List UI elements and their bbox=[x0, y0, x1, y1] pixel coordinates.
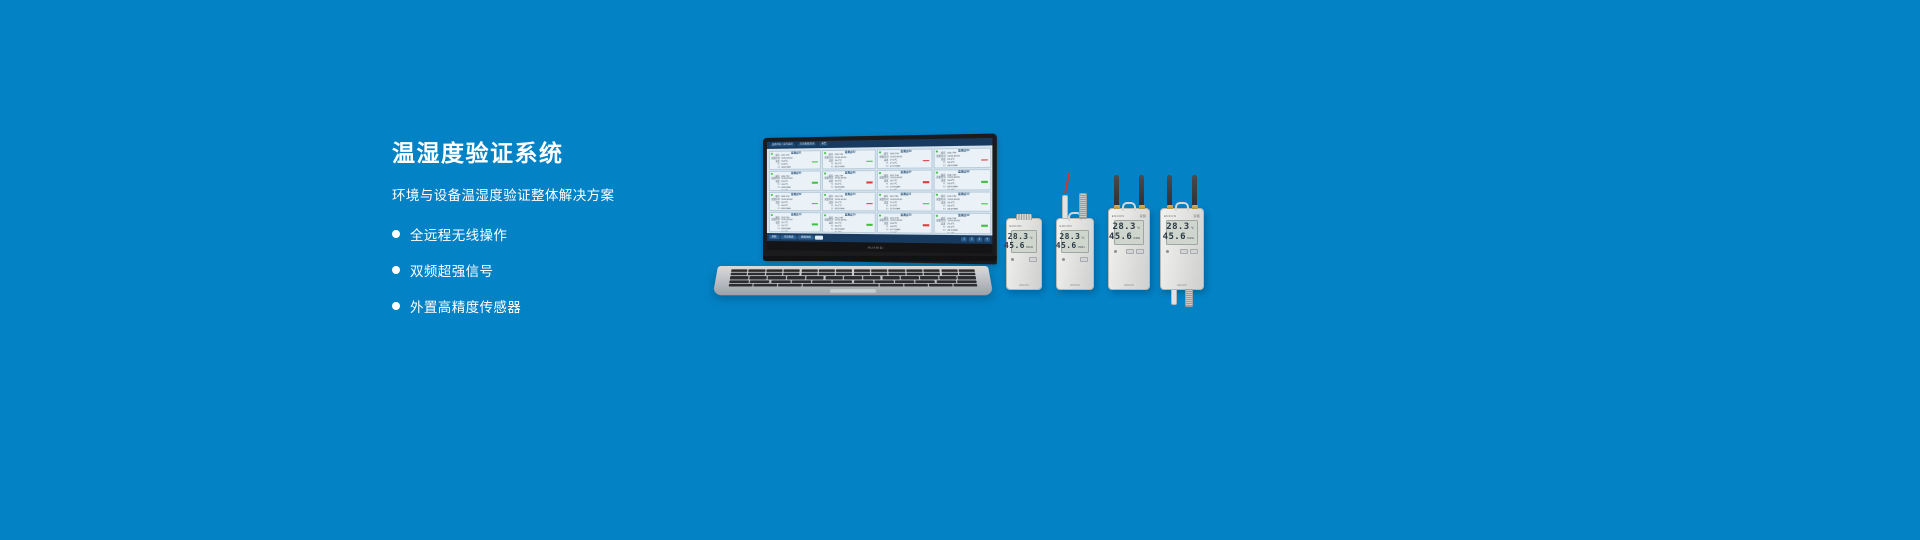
page-subtitle: 环境与设备温湿度验证整体解决方案 bbox=[392, 184, 722, 204]
monitor-card[interactable]: 监测点15编号015-T/H采集时间11/24 09:52温度26.9℃T126… bbox=[876, 212, 932, 233]
probe-wire-icon bbox=[1064, 172, 1070, 194]
keyboard-row bbox=[730, 276, 976, 279]
bullet-dot-icon bbox=[392, 266, 400, 274]
keyboard-key[interactable] bbox=[753, 284, 777, 287]
monitor-grid-container: 监测点01编号001-T/H采集时间11/24 09:52温度25.8℃T125… bbox=[767, 145, 992, 235]
device-external-probe-logger: ENCON 28.3 ℃ 45.6 %RH ENCON bbox=[1056, 218, 1094, 290]
keyboard-key[interactable] bbox=[879, 284, 903, 287]
lcd-temperature-row: 28.3 ℃ bbox=[1170, 223, 1194, 232]
feature-label: 双频超强信号 bbox=[410, 260, 493, 280]
monitor-card[interactable]: 监测点04编号004-T/H采集时间11/24 09:52温度25.3℃T125… bbox=[933, 147, 991, 168]
keyboard-key[interactable] bbox=[941, 273, 958, 276]
keyboard-key[interactable] bbox=[874, 280, 894, 283]
keyboard-key[interactable] bbox=[730, 276, 748, 279]
keyboard-key[interactable] bbox=[801, 273, 818, 276]
temperature-unit: ℃ bbox=[1081, 237, 1084, 240]
device-foot-logo: ENCON bbox=[1124, 284, 1133, 287]
keyboard-key[interactable] bbox=[833, 280, 853, 283]
keyboard-key[interactable] bbox=[783, 273, 800, 276]
feature-label: 全远程无线操作 bbox=[410, 224, 507, 244]
keyboard-key[interactable] bbox=[730, 273, 747, 276]
lcd-humidity-row: 45.6 %RH bbox=[1118, 233, 1140, 242]
card-row-t3: T326.9℃ bbox=[879, 233, 929, 234]
laptop-hinge bbox=[763, 256, 997, 261]
humidity-unit: %RH bbox=[1078, 246, 1085, 249]
keyboard-key[interactable] bbox=[901, 276, 919, 279]
humidity-value: 45.6 bbox=[1163, 233, 1186, 242]
keyboard-key[interactable] bbox=[889, 273, 906, 276]
chart-button[interactable]: 数据曲线 bbox=[798, 235, 814, 240]
brand-right-label: 双频 bbox=[1140, 214, 1147, 218]
page-title: 温湿度验证系统 bbox=[392, 140, 722, 168]
refresh-button[interactable]: 刷新 bbox=[769, 235, 780, 240]
keyboard-key[interactable] bbox=[871, 273, 887, 276]
lcd-humidity-row: 45.6 %RH bbox=[1015, 242, 1033, 250]
device-dualband-wireless-logger: ENCON 双频 28.3 ℃ 45.6 %RH E bbox=[1108, 208, 1150, 290]
device-controls bbox=[1114, 249, 1144, 254]
keyboard-key[interactable] bbox=[731, 269, 748, 272]
keyboard-key[interactable] bbox=[787, 276, 805, 279]
laptop-keyboard bbox=[729, 269, 978, 286]
monitor-card[interactable]: 监测点02编号002-T/H采集时间11/24 09:52温度26.1℃T126… bbox=[821, 149, 875, 170]
status-led-icon bbox=[1114, 250, 1117, 253]
vent-icon bbox=[1016, 214, 1032, 220]
temperature-value: 28.3 bbox=[1166, 223, 1189, 232]
brand-right-label: 双频 bbox=[1193, 214, 1200, 218]
card-row-t2: T248.4%RH bbox=[936, 208, 988, 211]
card-row-t2: T247.2%RH bbox=[879, 165, 929, 169]
toolbar-item-alarm[interactable]: 报警 bbox=[819, 143, 828, 147]
temperature-unit: ℃ bbox=[1137, 227, 1140, 230]
keyboard-key[interactable] bbox=[778, 284, 802, 287]
keyboard-key[interactable] bbox=[871, 269, 887, 272]
keyboard-key[interactable] bbox=[729, 284, 753, 287]
keyboard-key[interactable] bbox=[836, 269, 852, 272]
antenna-left-icon bbox=[1114, 175, 1119, 209]
keyboard-key[interactable] bbox=[882, 276, 900, 279]
keyboard-row bbox=[731, 269, 975, 272]
keyboard-key[interactable] bbox=[791, 280, 811, 283]
keyboard-key[interactable] bbox=[818, 273, 834, 276]
humidity-unit: %RH bbox=[1133, 237, 1140, 240]
lcd-humidity-row: 45.6 %RH bbox=[1065, 242, 1084, 250]
keyboard-key[interactable] bbox=[825, 276, 843, 279]
device-controls bbox=[1166, 249, 1197, 254]
laptop-bezel-brand: HUAWEI bbox=[767, 241, 992, 254]
lcd-display: 28.3 ℃ 45.6 %RH bbox=[1166, 220, 1198, 245]
keyboard-key[interactable] bbox=[941, 269, 958, 272]
probe-mesh-bottom-right bbox=[1185, 289, 1193, 307]
brand-left-label: ENCON bbox=[1164, 214, 1176, 218]
antenna-left-icon bbox=[1167, 175, 1172, 209]
keyboard-key[interactable] bbox=[803, 284, 878, 287]
keyboard-row bbox=[729, 280, 976, 283]
lcd-display: 28.3 ℃ 45.6 %RH bbox=[1011, 230, 1037, 253]
temperature-value: 28.3 bbox=[1059, 233, 1080, 241]
keyboard-row bbox=[729, 284, 978, 287]
card-row-t2: T249.0%RH bbox=[936, 165, 988, 169]
device-dualband-probe-logger: ENCON 双频 28.3 ℃ 45.6 %RH E bbox=[1160, 208, 1204, 290]
humidity-value: 45.6 bbox=[1109, 233, 1132, 242]
laptop-trackpad bbox=[829, 288, 877, 293]
brand-label: HUAWEI bbox=[868, 245, 884, 249]
device-button-down[interactable] bbox=[1136, 249, 1144, 254]
page-button-2[interactable]: 2 bbox=[969, 237, 975, 242]
monitor-card[interactable]: 监测点06编号006-T/H采集时间11/24 09:52温度25.5℃T125… bbox=[821, 170, 875, 190]
card-row-t2: T248.3%RH bbox=[824, 187, 873, 190]
device-case: ENCON 双频 28.3 ℃ 45.6 %RH E bbox=[1160, 208, 1204, 290]
keyboard-key[interactable] bbox=[750, 280, 770, 283]
probe-stem-bottom-left bbox=[1171, 289, 1177, 305]
keyboard-key[interactable] bbox=[920, 276, 938, 279]
device-keypad[interactable] bbox=[1180, 249, 1198, 254]
feature-item-1: 全远程无线操作 bbox=[392, 224, 722, 244]
probe-mesh-right bbox=[1079, 193, 1087, 219]
keyboard-key[interactable] bbox=[958, 269, 975, 272]
device-button-up[interactable] bbox=[1180, 249, 1188, 254]
keyboard-key[interactable] bbox=[936, 280, 956, 283]
card-row-t3: T326.2℃ bbox=[824, 232, 873, 233]
device-controls bbox=[1062, 257, 1089, 262]
status-led-icon bbox=[1011, 258, 1014, 261]
toolbar-spacer bbox=[825, 238, 960, 240]
keyboard-key[interactable] bbox=[895, 280, 915, 283]
temperature-unit: ℃ bbox=[1191, 227, 1194, 230]
card-row-t2: T248.6%RH bbox=[771, 166, 818, 169]
keyboard-key[interactable] bbox=[854, 273, 870, 276]
keyboard-key[interactable] bbox=[953, 284, 977, 287]
feature-list: 全远程无线操作 双频超强信号 外置高精度传感器 bbox=[392, 224, 722, 316]
feature-item-2: 双频超强信号 bbox=[392, 260, 722, 280]
lcd-display: 28.3 ℃ 45.6 %RH bbox=[1114, 220, 1144, 245]
antenna-base-left bbox=[1167, 205, 1173, 209]
antenna-base-left bbox=[1114, 205, 1120, 209]
export-button[interactable]: 导出报表 bbox=[781, 235, 797, 240]
bullet-dot-icon bbox=[392, 230, 400, 238]
antenna-right-icon bbox=[1139, 175, 1144, 209]
toolbar-item-monitor[interactable]: 设备列表 / 实时监控 bbox=[770, 143, 795, 147]
keyboard-key[interactable] bbox=[854, 280, 874, 283]
keyboard-key[interactable] bbox=[812, 280, 832, 283]
keyboard-key[interactable] bbox=[854, 269, 870, 272]
humidity-value: 45.6 bbox=[1056, 242, 1077, 250]
lcd-temperature-row: 28.3 ℃ bbox=[1065, 233, 1084, 241]
feature-item-3: 外置高精度传感器 bbox=[392, 296, 722, 316]
lcd-temperature-row: 28.3 ℃ bbox=[1015, 233, 1033, 241]
device-button-up[interactable] bbox=[1080, 257, 1088, 262]
device-controls bbox=[1011, 257, 1036, 262]
device-foot-logo: ENCON bbox=[1019, 284, 1028, 287]
bullet-dot-icon bbox=[392, 302, 400, 310]
keyboard-key[interactable] bbox=[863, 276, 881, 279]
keyboard-key[interactable] bbox=[771, 280, 791, 283]
device-foot-logo: ENCON bbox=[1070, 284, 1079, 287]
antenna-base-right bbox=[1192, 205, 1198, 209]
keyboard-key[interactable] bbox=[748, 273, 765, 276]
antenna-right-icon bbox=[1192, 175, 1197, 209]
card-row-t2: T248.0%RH bbox=[771, 208, 818, 211]
card-row-t2: T247.5%RH bbox=[879, 208, 929, 211]
device-case: ENCON 28.3 ℃ 45.6 %RH ENCON bbox=[1006, 218, 1042, 290]
keyboard-key[interactable] bbox=[729, 280, 749, 283]
keyboard-key[interactable] bbox=[784, 269, 800, 272]
card-row-t2: T248.9%RH bbox=[771, 228, 818, 231]
temperature-value: 28.3 bbox=[1008, 233, 1029, 241]
card-row-t2: T247.9%RH bbox=[879, 187, 929, 190]
brand-left-label: ENCON bbox=[1060, 224, 1072, 228]
monitor-card[interactable]: 监测点10编号010-T/H采集时间11/24 09:52温度25.1℃T125… bbox=[821, 191, 875, 211]
device-keypad[interactable] bbox=[1126, 249, 1144, 254]
humidity-value: 45.6 bbox=[1004, 242, 1025, 250]
keyboard-key[interactable] bbox=[923, 269, 940, 272]
device-branding: ENCON bbox=[1009, 224, 1038, 228]
keyboard-key[interactable] bbox=[819, 269, 835, 272]
laptop-screen: 设备列表 / 实时监控 历史数据查询 报警 监测点01编号001-T/H采集时间… bbox=[767, 138, 992, 254]
monitor-card[interactable]: 监测点03编号003-T/H采集时间11/24 09:52温度27.4℃T127… bbox=[876, 148, 932, 169]
status-led-icon bbox=[1062, 258, 1065, 261]
keyboard-key[interactable] bbox=[906, 273, 923, 276]
card-row-t2: T248.5%RH bbox=[936, 187, 988, 190]
monitor-card[interactable]: 监测点13编号013-T/H采集时间11/24 09:52温度25.7℃T125… bbox=[768, 212, 820, 232]
toolbar-item-history[interactable]: 历史数据查询 bbox=[798, 143, 817, 147]
monitor-card-grid: 监测点01编号001-T/H采集时间11/24 09:52温度25.8℃T125… bbox=[768, 147, 990, 234]
humidity-unit: %RH bbox=[1026, 246, 1033, 249]
device-foot-logo: ENCON bbox=[1177, 284, 1186, 287]
card-row-t2: T249.2%RH bbox=[824, 208, 873, 211]
device-button-down[interactable] bbox=[1190, 249, 1198, 254]
lcd-display: 28.3 ℃ 45.6 %RH bbox=[1061, 230, 1088, 253]
keyboard-key[interactable] bbox=[916, 280, 936, 283]
keyboard-key[interactable] bbox=[844, 276, 862, 279]
laptop-illustration: 设备列表 / 实时监控 历史数据查询 报警 监测点01编号001-T/H采集时间… bbox=[718, 138, 988, 300]
keyboard-key[interactable] bbox=[904, 284, 928, 287]
keyboard-key[interactable] bbox=[766, 269, 783, 272]
keyboard-key[interactable] bbox=[959, 273, 976, 276]
page-button-3[interactable]: 3 bbox=[976, 237, 982, 242]
active-tab-button[interactable] bbox=[815, 235, 823, 240]
device-branding: ENCON 双频 bbox=[1164, 214, 1200, 218]
temperature-value: 28.3 bbox=[1113, 223, 1136, 232]
monitor-card[interactable]: 监测点16编号016-T/H采集时间11/24 09:52温度25.4℃T125… bbox=[933, 213, 991, 234]
card-row-t3: T325.4℃ bbox=[936, 233, 988, 234]
keyboard-key[interactable] bbox=[958, 276, 976, 279]
device-case: ENCON 28.3 ℃ 45.6 %RH ENCON bbox=[1056, 218, 1094, 290]
monitor-card[interactable]: 监测点14编号014-T/H采集时间11/24 09:52温度26.2℃T126… bbox=[821, 212, 875, 232]
monitor-card[interactable]: 监测点05编号005-T/H采集时间11/24 09:52温度26.0℃T126… bbox=[768, 170, 820, 190]
hanging-hook-icon bbox=[1122, 202, 1136, 211]
device-temp-humidity-logger: ENCON 28.3 ℃ 45.6 %RH ENCON bbox=[1006, 218, 1042, 290]
brand-left-label: ENCON bbox=[1112, 214, 1124, 218]
page-button-4[interactable]: 4 bbox=[984, 237, 990, 242]
card-row-t2: T248.1%RH bbox=[824, 166, 873, 170]
device-button-up[interactable] bbox=[1126, 249, 1134, 254]
keyboard-key[interactable] bbox=[939, 276, 957, 279]
hanging-hook-icon bbox=[1175, 202, 1189, 211]
keyboard-key[interactable] bbox=[766, 273, 783, 276]
antenna-base-right bbox=[1139, 205, 1145, 209]
card-row-t2: T248.8%RH bbox=[771, 187, 818, 190]
keyboard-key[interactable] bbox=[957, 280, 977, 283]
monitor-card[interactable]: 监测点09编号009-T/H采集时间11/24 09:52温度26.3℃T126… bbox=[768, 191, 820, 211]
promo-banner: 温湿度验证系统 环境与设备温湿度验证整体解决方案 全远程无线操作 双频超强信号 … bbox=[0, 0, 1920, 540]
monitor-card[interactable]: 监测点01编号001-T/H采集时间11/24 09:52温度25.8℃T125… bbox=[768, 150, 820, 170]
keyboard-key[interactable] bbox=[929, 284, 953, 287]
device-branding: ENCON bbox=[1060, 224, 1091, 228]
keyboard-key[interactable] bbox=[749, 276, 767, 279]
status-led-icon bbox=[1166, 250, 1169, 253]
page-button-1[interactable]: 1 bbox=[961, 237, 967, 242]
monitor-card[interactable]: 监测点12编号012-T/H采集时间11/24 09:52温度26.4℃T126… bbox=[933, 191, 991, 212]
keyboard-key[interactable] bbox=[801, 269, 817, 272]
device-case: ENCON 双频 28.3 ℃ 45.6 %RH E bbox=[1108, 208, 1150, 290]
brand-left-label: ENCON bbox=[1009, 224, 1021, 228]
keyboard-key[interactable] bbox=[924, 273, 941, 276]
keyboard-key[interactable] bbox=[906, 269, 922, 272]
card-row-t2: T247.7%RH bbox=[879, 229, 929, 233]
device-branding: ENCON 双频 bbox=[1112, 214, 1146, 218]
card-row-t3: T325.7℃ bbox=[771, 231, 818, 232]
laptop-lid: 设备列表 / 实时监控 历史数据查询 报警 监测点01编号001-T/H采集时间… bbox=[763, 134, 997, 265]
laptop-base bbox=[713, 266, 994, 295]
lcd-temperature-row: 28.3 ℃ bbox=[1118, 223, 1140, 232]
device-button-up[interactable] bbox=[1029, 257, 1037, 262]
humidity-unit: %RH bbox=[1187, 237, 1194, 240]
keyboard-key[interactable] bbox=[749, 269, 766, 272]
card-row-t2: T248.2%RH bbox=[824, 229, 873, 233]
card-row-t2: T249.1%RH bbox=[936, 230, 988, 234]
marketing-text-block: 温湿度验证系统 环境与设备温湿度验证整体解决方案 全远程无线操作 双频超强信号 … bbox=[392, 140, 722, 332]
keyboard-row bbox=[730, 273, 975, 276]
feature-label: 外置高精度传感器 bbox=[410, 296, 521, 316]
probe-stem-left bbox=[1062, 195, 1068, 219]
keyboard-key[interactable] bbox=[768, 276, 786, 279]
temperature-unit: ℃ bbox=[1030, 237, 1033, 240]
lcd-humidity-row: 45.6 %RH bbox=[1170, 233, 1194, 242]
device-keypad[interactable] bbox=[1080, 257, 1088, 262]
keyboard-key[interactable] bbox=[889, 269, 905, 272]
monitor-card[interactable]: 监测点08编号008-T/H采集时间11/24 09:52温度25.9℃T125… bbox=[933, 169, 991, 190]
monitor-card[interactable]: 监测点07编号007-T/H采集时间11/24 09:52温度26.7℃T126… bbox=[876, 170, 932, 191]
device-keypad[interactable] bbox=[1029, 257, 1037, 262]
keyboard-key[interactable] bbox=[806, 276, 824, 279]
keyboard-key[interactable] bbox=[836, 273, 852, 276]
monitor-card[interactable]: 监测点11编号011-T/H采集时间11/24 09:52温度27.0℃T127… bbox=[876, 191, 932, 212]
